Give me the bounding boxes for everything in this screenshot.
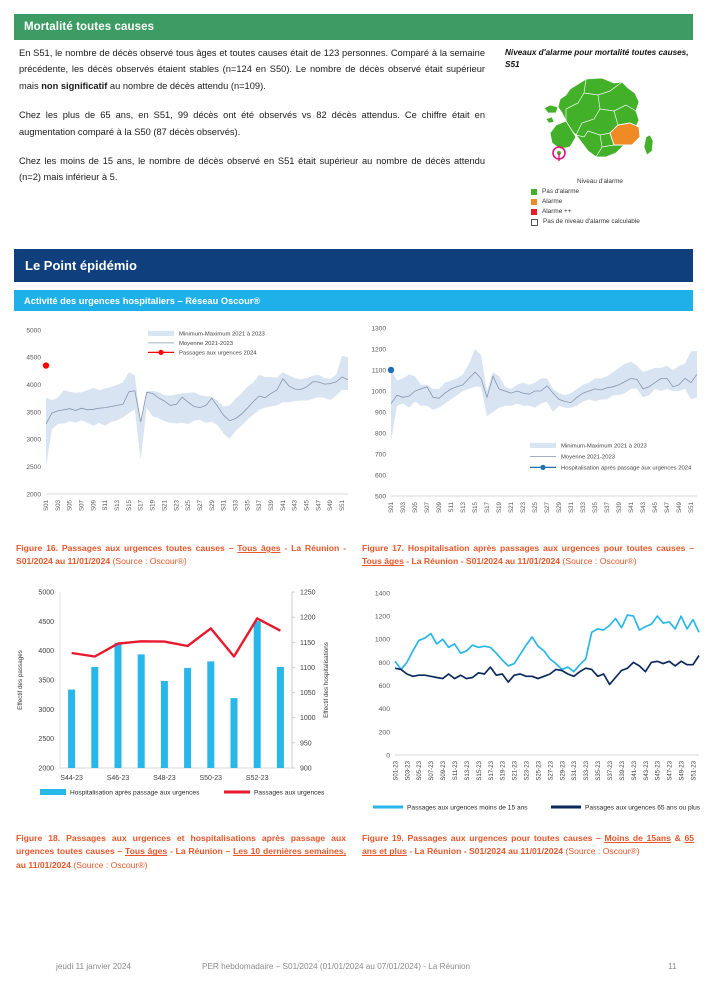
svg-text:S41: S41 bbox=[280, 499, 287, 511]
svg-text:5000: 5000 bbox=[26, 327, 41, 334]
legend-item-alarm: Alarme bbox=[531, 197, 695, 207]
figure-16-caption: Figure 16. Passages aux urgences toutes … bbox=[16, 542, 346, 569]
svg-text:3500: 3500 bbox=[38, 678, 54, 685]
svg-text:500: 500 bbox=[375, 493, 386, 500]
svg-text:5000: 5000 bbox=[38, 590, 54, 597]
svg-text:S13: S13 bbox=[114, 499, 121, 511]
fig19-cap-u1: Moins de 15ans bbox=[604, 833, 671, 843]
svg-text:S46-23: S46-23 bbox=[107, 775, 130, 782]
figure-19-caption: Figure 19. Passages aux urgences pour to… bbox=[362, 832, 694, 859]
mortality-paragraph-2: Chez les plus de 65 ans, en S51, 99 décè… bbox=[19, 107, 485, 140]
svg-text:950: 950 bbox=[300, 740, 312, 747]
legend-swatch-orange-icon bbox=[531, 199, 537, 205]
svg-text:900: 900 bbox=[300, 766, 312, 773]
svg-text:900: 900 bbox=[375, 409, 386, 416]
svg-text:S29-23: S29-23 bbox=[559, 760, 566, 780]
svg-text:Passages aux urgences 65 ans o: Passages aux urgences 65 ans ou plus bbox=[585, 805, 701, 812]
svg-text:S05-23: S05-23 bbox=[416, 760, 423, 780]
svg-text:S07-23: S07-23 bbox=[428, 760, 435, 780]
svg-text:Effectif des passages: Effectif des passages bbox=[17, 650, 24, 710]
svg-text:600: 600 bbox=[379, 683, 391, 690]
legend-label-no-alarm: Pas d'alarme bbox=[542, 187, 579, 197]
svg-text:S05: S05 bbox=[67, 499, 74, 511]
svg-text:S39: S39 bbox=[616, 501, 623, 513]
svg-text:S51-23: S51-23 bbox=[690, 760, 697, 780]
svg-text:3500: 3500 bbox=[26, 409, 41, 416]
svg-text:S21-23: S21-23 bbox=[512, 760, 519, 780]
fig17-cap-main: Figure 17. Hospitalisation après passage… bbox=[362, 543, 694, 553]
svg-text:Passages aux urgences moins de: Passages aux urgences moins de 15 ans bbox=[407, 805, 528, 812]
svg-text:S31: S31 bbox=[221, 499, 228, 511]
alarm-legend-header: Niveau d'alarme bbox=[505, 178, 695, 185]
svg-text:S15: S15 bbox=[126, 499, 133, 511]
svg-text:S45: S45 bbox=[304, 499, 311, 511]
fig18-cap-mid2: au 11/01/2024 bbox=[16, 860, 73, 870]
svg-text:S25-23: S25-23 bbox=[535, 760, 542, 780]
svg-text:Passages aux urgences: Passages aux urgences bbox=[254, 790, 325, 797]
svg-text:S11: S11 bbox=[102, 499, 109, 510]
legend-item-no-alarm: Pas d'alarme bbox=[531, 187, 695, 197]
svg-text:3000: 3000 bbox=[38, 707, 54, 714]
svg-text:S27: S27 bbox=[197, 499, 204, 511]
svg-text:S47: S47 bbox=[664, 501, 671, 513]
svg-text:S15-23: S15-23 bbox=[476, 760, 483, 780]
svg-text:S13: S13 bbox=[460, 501, 467, 513]
fig16-cap-main: Figure 16. Passages aux urgences toutes … bbox=[16, 543, 237, 553]
point-epidemio-title: Le Point épidémio bbox=[14, 258, 137, 273]
svg-text:S03: S03 bbox=[400, 501, 407, 513]
fig18-cap-u2: Les 10 dernières semaines, bbox=[233, 846, 346, 856]
svg-text:S03: S03 bbox=[55, 499, 62, 511]
fig18-cap-src: (Source : Oscour®) bbox=[73, 860, 147, 870]
fig17-cap-mid: - La Réunion - S01/2024 au 11/01/2024 bbox=[404, 556, 563, 566]
figure-18-caption: Figure 18. Passages aux urgences et hosp… bbox=[16, 832, 346, 872]
svg-text:800: 800 bbox=[379, 660, 391, 667]
svg-text:S43: S43 bbox=[640, 501, 647, 513]
svg-text:S48-23: S48-23 bbox=[153, 775, 176, 782]
svg-text:S27: S27 bbox=[544, 501, 551, 513]
fig19-cap-main: Figure 19. Passages aux urgences pour to… bbox=[362, 833, 604, 843]
legend-label-alarm: Alarme bbox=[542, 197, 562, 207]
svg-text:S07: S07 bbox=[424, 501, 431, 513]
svg-text:S25: S25 bbox=[185, 499, 192, 511]
svg-text:1250: 1250 bbox=[300, 590, 316, 597]
figure-16-chart: 2000250030003500400045005000S01S03S05S07… bbox=[8, 318, 353, 533]
fig19-cap-mid2: - La Réunion - S01/2024 au 11/01/2024 bbox=[407, 846, 566, 856]
legend-swatch-white-icon bbox=[531, 219, 538, 226]
svg-text:S21: S21 bbox=[508, 501, 515, 513]
svg-text:1000: 1000 bbox=[371, 388, 386, 395]
svg-text:700: 700 bbox=[375, 451, 386, 458]
france-map-icon bbox=[540, 75, 660, 175]
legend-label-alarm-plus: Alarme ++ bbox=[542, 207, 571, 217]
svg-text:S23: S23 bbox=[520, 501, 527, 513]
legend-item-not-calculable: Pas de niveau d'alarme calculable bbox=[531, 217, 695, 227]
svg-text:S52-23: S52-23 bbox=[246, 775, 269, 782]
legend-item-alarm-plus: Alarme ++ bbox=[531, 207, 695, 217]
svg-text:S15: S15 bbox=[472, 501, 479, 513]
svg-text:S43: S43 bbox=[292, 499, 299, 511]
svg-text:1050: 1050 bbox=[300, 690, 316, 697]
footer-date: jeudi 11 janvier 2024 bbox=[56, 962, 131, 971]
svg-text:0: 0 bbox=[386, 752, 390, 759]
svg-text:S35-23: S35-23 bbox=[595, 760, 602, 780]
svg-text:S37-23: S37-23 bbox=[607, 760, 614, 780]
svg-text:S09-23: S09-23 bbox=[440, 760, 447, 780]
svg-text:S33: S33 bbox=[232, 499, 239, 511]
svg-text:1100: 1100 bbox=[300, 665, 315, 672]
svg-text:800: 800 bbox=[375, 430, 386, 437]
svg-text:2000: 2000 bbox=[26, 491, 41, 498]
svg-text:1000: 1000 bbox=[300, 715, 316, 722]
point-epidemio-header: Le Point épidémio bbox=[14, 249, 693, 282]
svg-text:4500: 4500 bbox=[26, 355, 41, 362]
svg-text:S41: S41 bbox=[628, 501, 635, 513]
fig17-cap-u1: Tous âges bbox=[362, 556, 404, 566]
svg-text:200: 200 bbox=[379, 729, 391, 736]
svg-text:S27-23: S27-23 bbox=[547, 760, 554, 780]
legend-swatch-red-icon bbox=[531, 209, 537, 215]
svg-text:Hospitalisation après passage: Hospitalisation après passage aux urgenc… bbox=[561, 466, 692, 472]
legend-label-not-calculable: Pas de niveau d'alarme calculable bbox=[543, 217, 640, 227]
fig18-cap-mid: - La Réunion – bbox=[167, 846, 233, 856]
mortality-p1-part2: au nombre de décès attendu (n=109). bbox=[107, 81, 265, 91]
fig17-cap-src: (Source : Oscour®) bbox=[562, 556, 636, 566]
svg-text:S37: S37 bbox=[604, 501, 611, 513]
fig16-cap-src: (Source : Oscour®) bbox=[113, 556, 187, 566]
footer-page-number: 11 bbox=[668, 962, 677, 971]
svg-text:Moyenne 2021-2023: Moyenne 2021-2023 bbox=[179, 341, 234, 347]
france-map bbox=[505, 75, 695, 175]
svg-text:S11: S11 bbox=[448, 501, 455, 512]
figure-18-chart: 2000250030003500400045005000900950100010… bbox=[8, 578, 353, 816]
svg-text:S45: S45 bbox=[652, 501, 659, 513]
mortality-p1-bold: non significatif bbox=[41, 81, 107, 91]
svg-text:S25: S25 bbox=[532, 501, 539, 513]
fig19-cap-src: (Source : Oscour®) bbox=[565, 846, 639, 856]
svg-text:S29: S29 bbox=[556, 501, 563, 513]
svg-text:Passages aux urgences 2024: Passages aux urgences 2024 bbox=[179, 351, 257, 357]
svg-text:4000: 4000 bbox=[38, 648, 54, 655]
figure-17-chart: 5006007008009001000110012001300S01S03S05… bbox=[355, 318, 703, 533]
report-page: Mortalité toutes causes En S51, le nombr… bbox=[0, 0, 707, 1000]
svg-text:S13-23: S13-23 bbox=[464, 760, 471, 780]
svg-text:S51: S51 bbox=[339, 499, 346, 511]
mortality-section-title: Mortalité toutes causes bbox=[14, 21, 154, 33]
svg-text:S29: S29 bbox=[209, 499, 216, 511]
svg-text:S51: S51 bbox=[688, 501, 695, 513]
svg-text:400: 400 bbox=[379, 706, 391, 713]
svg-text:S39: S39 bbox=[268, 499, 275, 511]
svg-text:1300: 1300 bbox=[371, 325, 386, 332]
svg-text:S31-23: S31-23 bbox=[571, 760, 578, 780]
svg-text:S19: S19 bbox=[496, 501, 503, 513]
svg-text:S31: S31 bbox=[568, 501, 575, 513]
svg-text:S23-23: S23-23 bbox=[524, 760, 531, 780]
svg-text:S07: S07 bbox=[79, 499, 86, 511]
fig16-cap-u1: Tous âges bbox=[237, 543, 280, 553]
svg-text:S21: S21 bbox=[161, 499, 168, 511]
mortality-section-header: Mortalité toutes causes bbox=[14, 14, 693, 40]
svg-text:S19: S19 bbox=[150, 499, 157, 511]
svg-text:S33-23: S33-23 bbox=[583, 760, 590, 780]
figure-19-chart: 0200400600800100012001400S01-23S03-23S05… bbox=[355, 585, 703, 815]
svg-text:600: 600 bbox=[375, 472, 386, 479]
svg-text:S35: S35 bbox=[244, 499, 251, 511]
svg-text:S41-23: S41-23 bbox=[631, 760, 638, 780]
svg-text:Effectif des hospitalisations: Effectif des hospitalisations bbox=[323, 642, 330, 718]
svg-text:S45-23: S45-23 bbox=[655, 760, 662, 780]
activity-section-title: Activité des urgences hospitaliers – Rés… bbox=[14, 296, 260, 306]
svg-text:S09: S09 bbox=[90, 499, 97, 511]
svg-text:S39-23: S39-23 bbox=[619, 760, 626, 780]
svg-text:1200: 1200 bbox=[300, 615, 316, 622]
svg-text:S09: S09 bbox=[436, 501, 443, 513]
svg-text:4500: 4500 bbox=[38, 619, 54, 626]
svg-text:S43-23: S43-23 bbox=[643, 760, 650, 780]
fig19-cap-mid: & bbox=[671, 833, 685, 843]
svg-text:Minimum-Maximum 2021 à 2023: Minimum-Maximum 2021 à 2023 bbox=[561, 444, 647, 450]
svg-text:2500: 2500 bbox=[38, 736, 54, 743]
svg-text:Minimum-Maximum 2021 à 2023: Minimum-Maximum 2021 à 2023 bbox=[179, 332, 265, 338]
svg-text:S01: S01 bbox=[388, 501, 395, 513]
svg-text:S47: S47 bbox=[315, 499, 322, 511]
svg-text:S50-23: S50-23 bbox=[200, 775, 223, 782]
mortality-paragraph-3: Chez les moins de 15 ans, le nombre de d… bbox=[19, 153, 485, 186]
svg-text:1200: 1200 bbox=[375, 614, 390, 621]
svg-text:1000: 1000 bbox=[375, 637, 390, 644]
svg-text:Moyenne 2021-2023: Moyenne 2021-2023 bbox=[561, 455, 616, 461]
svg-text:1150: 1150 bbox=[300, 640, 315, 647]
svg-text:S03-23: S03-23 bbox=[404, 760, 411, 780]
svg-text:S33: S33 bbox=[580, 501, 587, 513]
svg-text:S05: S05 bbox=[412, 501, 419, 513]
svg-text:2500: 2500 bbox=[26, 464, 41, 471]
svg-text:S47-23: S47-23 bbox=[667, 760, 674, 780]
svg-text:S44-23: S44-23 bbox=[60, 775, 83, 782]
svg-text:1100: 1100 bbox=[372, 367, 387, 374]
svg-text:S23: S23 bbox=[173, 499, 180, 511]
svg-text:S17: S17 bbox=[484, 501, 491, 513]
svg-text:Hospitalisation après passage: Hospitalisation après passage aux urgenc… bbox=[70, 790, 200, 797]
alarm-map-panel: Niveaux d'alarme pour mortalité toutes c… bbox=[505, 47, 695, 227]
svg-text:S49: S49 bbox=[676, 501, 683, 513]
svg-text:S37: S37 bbox=[256, 499, 263, 511]
svg-text:S49-23: S49-23 bbox=[679, 760, 686, 780]
figure-17-caption: Figure 17. Hospitalisation après passage… bbox=[362, 542, 694, 569]
page-footer: jeudi 11 janvier 2024 PER hebdomadaire –… bbox=[0, 962, 707, 982]
legend-swatch-green-icon bbox=[531, 189, 537, 195]
svg-text:S11-23: S11-23 bbox=[452, 760, 459, 780]
svg-text:S01: S01 bbox=[43, 499, 50, 511]
svg-text:S49: S49 bbox=[327, 499, 334, 511]
svg-text:S35: S35 bbox=[592, 501, 599, 513]
svg-text:3000: 3000 bbox=[26, 437, 41, 444]
fig18-cap-u1: Tous âges bbox=[125, 846, 167, 856]
svg-text:S17-23: S17-23 bbox=[488, 760, 495, 780]
svg-text:4000: 4000 bbox=[26, 382, 41, 389]
footer-title: PER hebdomadaire – S01/2024 (01/01/2024 … bbox=[202, 962, 470, 971]
mortality-body-text: En S51, le nombre de décès observé tous … bbox=[19, 45, 485, 199]
svg-text:S01-23: S01-23 bbox=[392, 760, 399, 780]
svg-text:2000: 2000 bbox=[38, 766, 54, 773]
svg-text:1400: 1400 bbox=[375, 590, 390, 597]
mortality-paragraph-1: En S51, le nombre de décès observé tous … bbox=[19, 45, 485, 94]
svg-text:1200: 1200 bbox=[371, 346, 386, 353]
svg-text:S19-23: S19-23 bbox=[500, 760, 507, 780]
alarm-legend-list: Pas d'alarme Alarme Alarme ++ Pas de niv… bbox=[531, 187, 695, 227]
svg-text:S17: S17 bbox=[138, 499, 145, 511]
activity-section-header: Activité des urgences hospitaliers – Rés… bbox=[14, 290, 693, 311]
alarm-map-title: Niveaux d'alarme pour mortalité toutes c… bbox=[505, 47, 695, 71]
